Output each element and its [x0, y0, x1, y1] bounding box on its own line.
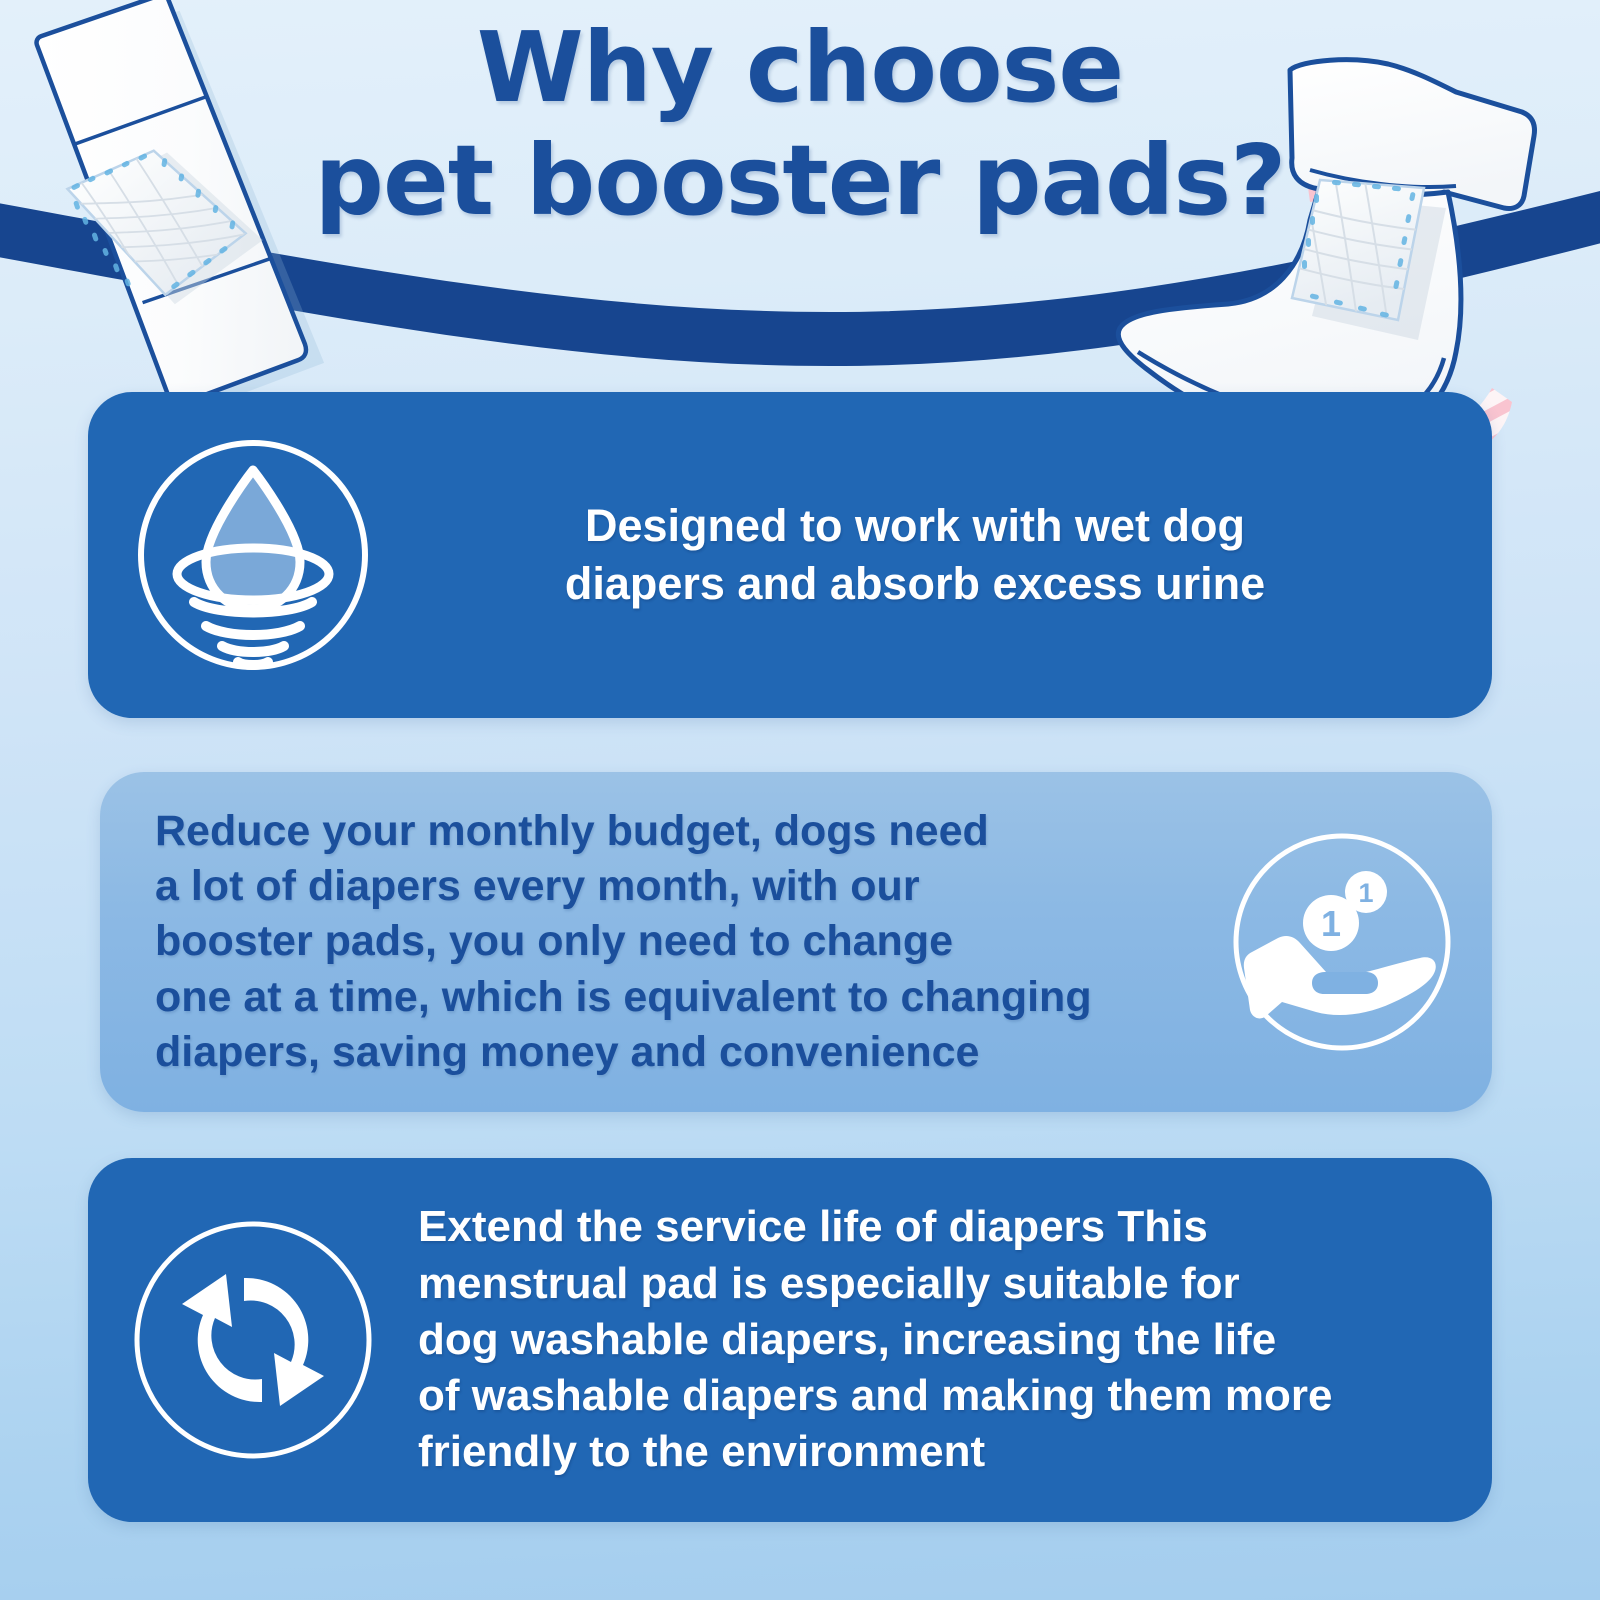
- benefit-card-savings: 1 1 Reduce your monthly budget, dogs nee…: [100, 772, 1492, 1112]
- recycle-refresh-arrows-icon-wrap: [88, 1215, 418, 1465]
- card-1-line-2: diapers and absorb excess urine: [418, 555, 1412, 613]
- benefit-card-absorb: Designed to work with wet dog diapers an…: [88, 392, 1492, 718]
- card-1-line-1: Designed to work with wet dog: [418, 497, 1412, 555]
- card-2-line-2: a lot of diapers every month, with our: [155, 859, 1192, 914]
- card-3-line-1: Extend the service life of diapers This: [418, 1199, 1432, 1255]
- card-2-line-3: booster pads, you only need to change: [155, 914, 1192, 969]
- water-droplet-absorb-icon: [132, 434, 374, 676]
- hand-holding-coins-icon: 1 1: [1226, 826, 1458, 1058]
- title-line-1: Why choose: [0, 12, 1600, 125]
- page-title: Why choose pet booster pads?: [0, 12, 1600, 237]
- benefit-card-reusable-text: Extend the service life of diapers This …: [418, 1199, 1492, 1481]
- benefit-card-savings-text: Reduce your monthly budget, dogs need a …: [155, 804, 1192, 1079]
- title-line-2: pet booster pads?: [0, 125, 1600, 238]
- card-3-line-3: dog washable diapers, increasing the lif…: [418, 1312, 1432, 1368]
- card-2-line-4: one at a time, which is equivalent to ch…: [155, 970, 1192, 1025]
- infographic-poster: Why choose pet booster pads?: [0, 0, 1600, 1600]
- card-2-line-1: Reduce your monthly budget, dogs need: [155, 804, 1192, 859]
- coin-label-lower: 1: [1321, 903, 1341, 944]
- benefit-card-reusable: Extend the service life of diapers This …: [88, 1158, 1492, 1522]
- card-2-line-5: diapers, saving money and convenience: [155, 1025, 1192, 1080]
- card-3-line-4: of washable diapers and making them more: [418, 1368, 1432, 1424]
- benefit-card-absorb-text: Designed to work with wet dog diapers an…: [418, 497, 1492, 612]
- card-3-line-2: menstrual pad is especially suitable for: [418, 1256, 1432, 1312]
- hand-holding-coins-icon-wrap: 1 1: [1192, 826, 1492, 1058]
- water-droplet-absorb-icon-wrap: [88, 434, 418, 676]
- card-3-line-5: friendly to the environment: [418, 1424, 1432, 1480]
- recycle-refresh-arrows-icon: [128, 1215, 378, 1465]
- coin-label-upper: 1: [1358, 878, 1373, 908]
